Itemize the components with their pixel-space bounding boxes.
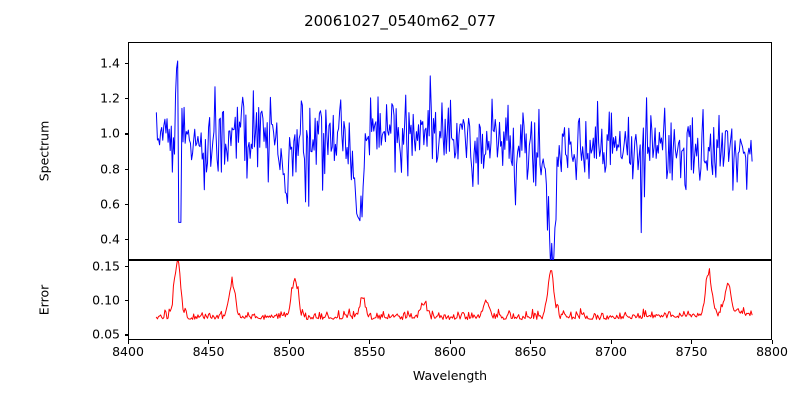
x-axis-tick-label: 8750 xyxy=(676,344,708,359)
error-ytick-mark xyxy=(125,300,129,301)
spectrum-ytick-mark xyxy=(125,63,129,64)
spectrum-y-axis-label: Spectrum xyxy=(37,121,52,182)
x-axis-tick-mark xyxy=(128,340,129,344)
spectrum-ytick-mark xyxy=(125,204,129,205)
error-line-series xyxy=(129,261,773,341)
x-axis-tick-label: 8400 xyxy=(112,344,144,359)
spectrum-ytick-label: 0.6 xyxy=(70,196,120,211)
spectrum-ytick-label: 1.0 xyxy=(70,126,120,141)
spectrum-panel xyxy=(128,42,772,260)
spectrum-ytick-label: 0.4 xyxy=(70,231,120,246)
page-title: 20061027_0540m62_077 xyxy=(0,12,800,30)
x-axis-tick-mark xyxy=(208,340,209,344)
error-ytick-label: 0.05 xyxy=(70,327,120,342)
spectrum-ytick-mark xyxy=(125,169,129,170)
x-axis-tick-label: 8550 xyxy=(354,344,386,359)
spectrum-ytick-mark xyxy=(125,98,129,99)
x-axis-tick-mark xyxy=(369,340,370,344)
x-axis-label: Wavelength xyxy=(413,368,487,383)
error-y-axis-label: Error xyxy=(37,285,52,315)
x-axis-tick-mark xyxy=(611,340,612,344)
x-axis-tick-label: 8600 xyxy=(434,344,466,359)
spectrum-line-series xyxy=(129,43,773,261)
x-axis-tick-label: 8500 xyxy=(273,344,305,359)
spectrum-ytick-mark xyxy=(125,239,129,240)
x-axis-tick-label: 8650 xyxy=(515,344,547,359)
error-panel xyxy=(128,260,772,340)
error-ytick-label: 0.10 xyxy=(70,293,120,308)
x-axis-tick-mark xyxy=(289,340,290,344)
spectrum-ytick-label: 1.4 xyxy=(70,56,120,71)
error-ytick-label: 0.15 xyxy=(70,258,120,273)
x-axis-tick-mark xyxy=(530,340,531,344)
x-axis-tick-mark xyxy=(450,340,451,344)
x-axis-tick-mark xyxy=(772,340,773,344)
x-axis-tick-label: 8700 xyxy=(595,344,627,359)
x-axis-tick-label: 8450 xyxy=(193,344,225,359)
x-axis-tick-mark xyxy=(691,340,692,344)
error-ytick-mark xyxy=(125,266,129,267)
spectrum-ytick-label: 0.8 xyxy=(70,161,120,176)
spectrum-ytick-label: 1.2 xyxy=(70,91,120,106)
error-ytick-mark xyxy=(125,334,129,335)
x-axis-tick-label: 8800 xyxy=(756,344,788,359)
spectrum-ytick-mark xyxy=(125,133,129,134)
spectrum-figure: 20061027_0540m62_077 Spectrum Error Wave… xyxy=(0,0,800,400)
